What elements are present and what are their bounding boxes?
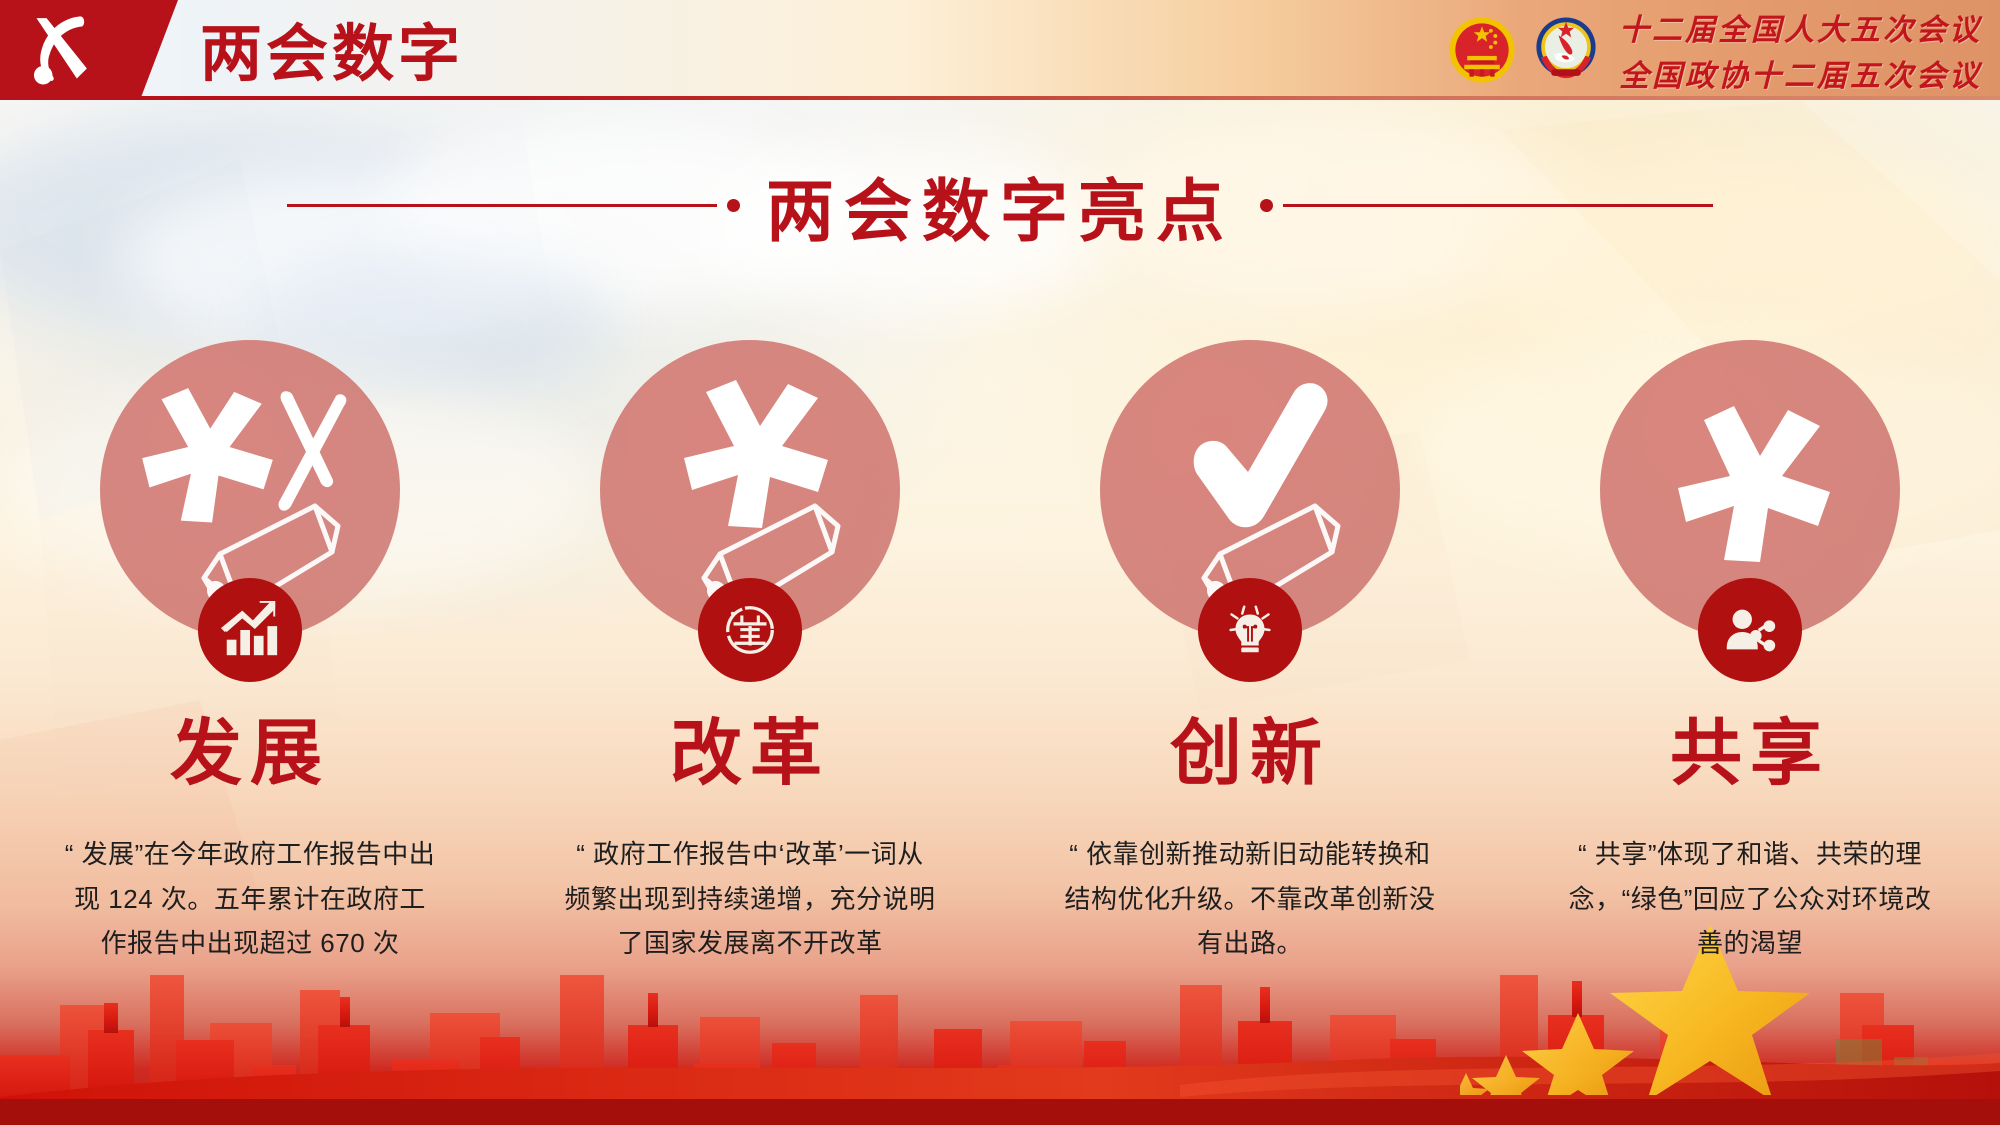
badge-sharing[interactable]	[1698, 578, 1802, 682]
column-label-innovation: 创新	[1170, 718, 1330, 790]
highlight-columns: 发展 “ 发展”在今年政府工作报告中出现 124 次。五年累计在政府工作报告中出…	[0, 340, 2000, 1080]
seal-stamp-icon	[719, 599, 781, 661]
lightbulb-icon	[1219, 599, 1281, 661]
meeting-title-line-2: 全国政协十二届五次会议	[1619, 51, 1982, 95]
column-description-sharing: “ 共享”体现了和谐、共荣的理念，“绿色”回应了公众对环境改善的渴望	[1564, 832, 1936, 966]
column-label-sharing: 共享	[1670, 718, 1830, 790]
header-divider	[0, 96, 2000, 100]
column-description-reform: “ 政府工作报告中‘改革’一词从频繁出现到持续递增，充分说明了国家发展离不开改革	[564, 832, 936, 966]
highlight-column-innovation[interactable]: 创新 “ 依靠创新推动新旧动能转换和结构优化升级。不靠改革创新没有出路。	[1000, 340, 1500, 1080]
badge-innovation[interactable]	[1198, 578, 1302, 682]
highlight-column-development[interactable]: 发展 “ 发展”在今年政府工作报告中出现 124 次。五年累计在政府工作报告中出…	[0, 340, 500, 1080]
column-description-development: “ 发展”在今年政府工作报告中出现 124 次。五年累计在政府工作报告中出现超过…	[64, 832, 436, 966]
highlight-column-sharing[interactable]: 共享 “ 共享”体现了和谐、共荣的理念，“绿色”回应了公众对环境改善的渴望	[1500, 340, 2000, 1080]
national-emblem-icon	[1445, 13, 1519, 87]
column-label-development: 发展	[170, 718, 330, 790]
column-description-innovation: “ 依靠创新推动新旧动能转换和结构优化升级。不靠改革创新没有出路。	[1064, 832, 1436, 966]
header-emblem-group: 十二届全国人大五次会议 全国政协十二届五次会议	[1445, 0, 1982, 100]
title-rule-right	[1260, 199, 1713, 212]
highlight-column-reform[interactable]: 改革 “ 政府工作报告中‘改革’一词从频繁出现到持续递增，充分说明了国家发展离不…	[500, 340, 1000, 1080]
hammer-sickle-icon	[18, 8, 102, 92]
icon-circle-development	[100, 340, 400, 640]
slide-header: 两会数字	[0, 0, 2000, 100]
icon-circle-sharing	[1600, 340, 1900, 640]
meeting-title-block: 十二届全国人大五次会议 全国政协十二届五次会议	[1619, 5, 1982, 95]
column-label-reform: 改革	[670, 718, 830, 790]
bar-chart-growth-icon	[219, 599, 281, 661]
icon-circle-innovation	[1100, 340, 1400, 640]
badge-reform[interactable]	[698, 578, 802, 682]
badge-development[interactable]	[198, 578, 302, 682]
bottom-bar	[0, 1099, 2000, 1125]
person-share-icon	[1719, 599, 1781, 661]
page-title: 两会数字	[200, 3, 464, 93]
meeting-title-line-1: 十二届全国人大五次会议	[1619, 5, 1982, 49]
icon-circle-reform	[600, 340, 900, 640]
title-rule-left	[287, 199, 740, 212]
slide-root: 两会数字	[0, 0, 2000, 1125]
section-title-row: 两会数字亮点	[0, 150, 2000, 260]
section-title: 两会数字亮点	[766, 156, 1234, 255]
cppcc-emblem-icon	[1529, 13, 1603, 87]
